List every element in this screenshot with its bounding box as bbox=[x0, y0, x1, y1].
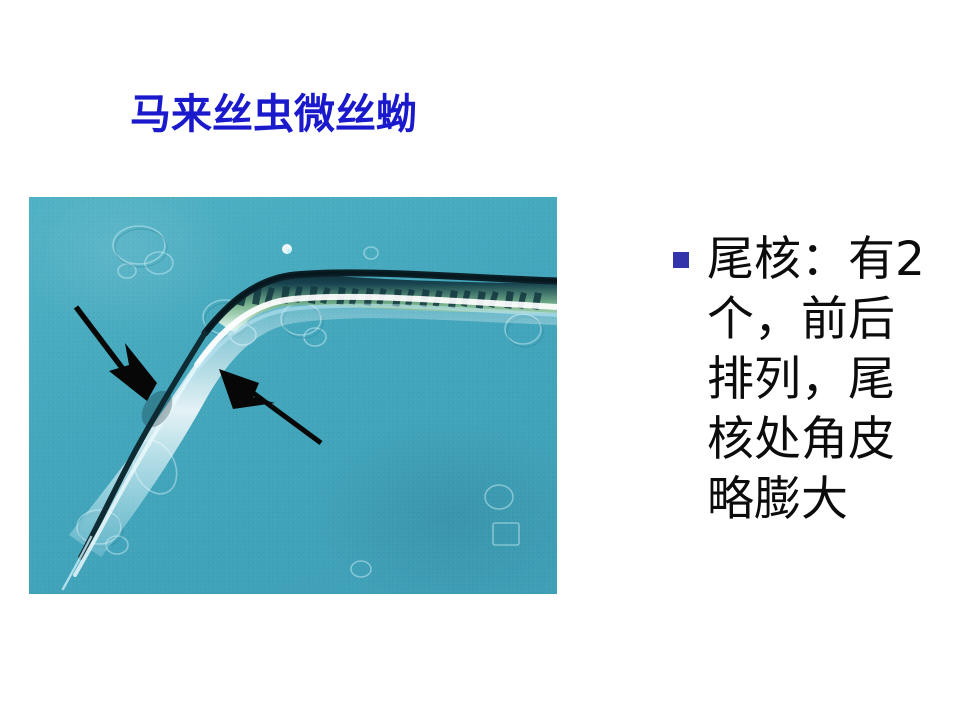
arrow-tail-nucleus-upper bbox=[76, 307, 157, 401]
microscopy-image[interactable] bbox=[29, 197, 557, 594]
list-item: 尾核：有2个，前后排列，尾核处角皮略膨大 bbox=[670, 230, 940, 530]
square-bullet-icon bbox=[673, 252, 689, 268]
bright-speck-core bbox=[287, 249, 291, 253]
bullet-list: 尾核：有2个，前后排列，尾核处角皮略膨大 bbox=[670, 230, 940, 530]
arrow-tail-nucleus-lower bbox=[219, 369, 321, 443]
image-content-vector bbox=[29, 197, 557, 594]
page-title: 马来丝虫微丝蚴 bbox=[130, 90, 417, 138]
slide-canvas: 马来丝虫微丝蚴 bbox=[0, 0, 960, 720]
worm-tail-tip bbox=[63, 537, 91, 589]
